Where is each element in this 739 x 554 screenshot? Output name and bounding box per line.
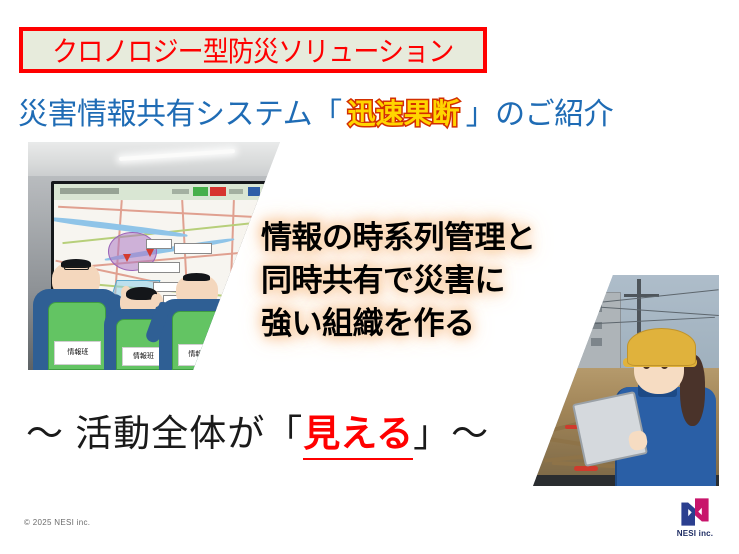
- slide-tagline: 〜 活動全体が「 見える 」〜: [26, 403, 489, 460]
- center-message-line-2: 同時共有で災害に: [261, 259, 621, 302]
- map-app-label-1: [172, 189, 189, 194]
- map-app-label-2: [229, 189, 244, 194]
- map-pin-icon: [146, 249, 154, 257]
- slide-title-box: クロノロジー型防災ソリューション: [19, 27, 487, 73]
- vest-label: 情報班: [178, 344, 220, 366]
- person-vest: 情報班: [48, 302, 107, 370]
- map-app-header: [54, 184, 265, 201]
- slide-title-text: クロノロジー型防災ソリューション: [52, 30, 453, 70]
- map-road: [58, 205, 260, 218]
- tagline-emphasis: 見える: [303, 403, 413, 460]
- vest-label: 情報班: [54, 341, 101, 365]
- copyright-text: © 2025 NESI inc.: [24, 518, 90, 527]
- safety-helmet-icon: [627, 328, 696, 365]
- map-app-title-placeholder: [60, 188, 119, 194]
- tagline-trail: 」〜: [413, 403, 489, 457]
- vest-label: 情報班: [122, 347, 164, 366]
- map-app-button-blue: [248, 187, 261, 195]
- map-pin-icon: [123, 254, 131, 262]
- map-callout: [138, 262, 180, 273]
- slide-canvas: クロノロジー型防災ソリューション 災害情報共有システム「 迅速果断 」のご紹介: [0, 0, 739, 554]
- subtitle-highlight-product-name: 迅速果断: [348, 92, 460, 132]
- person-hand: [151, 294, 159, 306]
- center-message-line-3: 強い組織を作る: [261, 302, 621, 345]
- tagline-lead: 〜 活動全体が「: [26, 403, 303, 457]
- photo-operations-room: 情報班 情報班 情報班: [28, 142, 280, 370]
- tablet-device: [572, 391, 648, 467]
- subtitle-suffix: 」のご紹介: [466, 89, 614, 133]
- nesi-n-logo-icon: [678, 497, 712, 527]
- subtitle-prefix: 災害情報共有システム「: [18, 89, 342, 133]
- slide-subtitle: 災害情報共有システム「 迅速果断 」のご紹介: [18, 89, 718, 133]
- person-vest: 情報班: [172, 311, 224, 370]
- company-logo: NESI inc.: [667, 497, 723, 543]
- person-standing-right: 情報班: [159, 274, 235, 370]
- center-message-block: 情報の時系列管理と 同時共有で災害に 強い組織を作る: [261, 216, 621, 345]
- ceiling: [28, 142, 280, 181]
- map-callout: [146, 239, 171, 250]
- center-message-line-1: 情報の時系列管理と: [261, 216, 621, 259]
- map-app-button-green: [193, 187, 208, 195]
- person-hair: [183, 273, 210, 281]
- logo-wordmark: NESI inc.: [677, 529, 713, 538]
- map-callout: [174, 243, 212, 254]
- glasses-icon: [64, 266, 89, 271]
- map-app-button-red: [210, 187, 227, 195]
